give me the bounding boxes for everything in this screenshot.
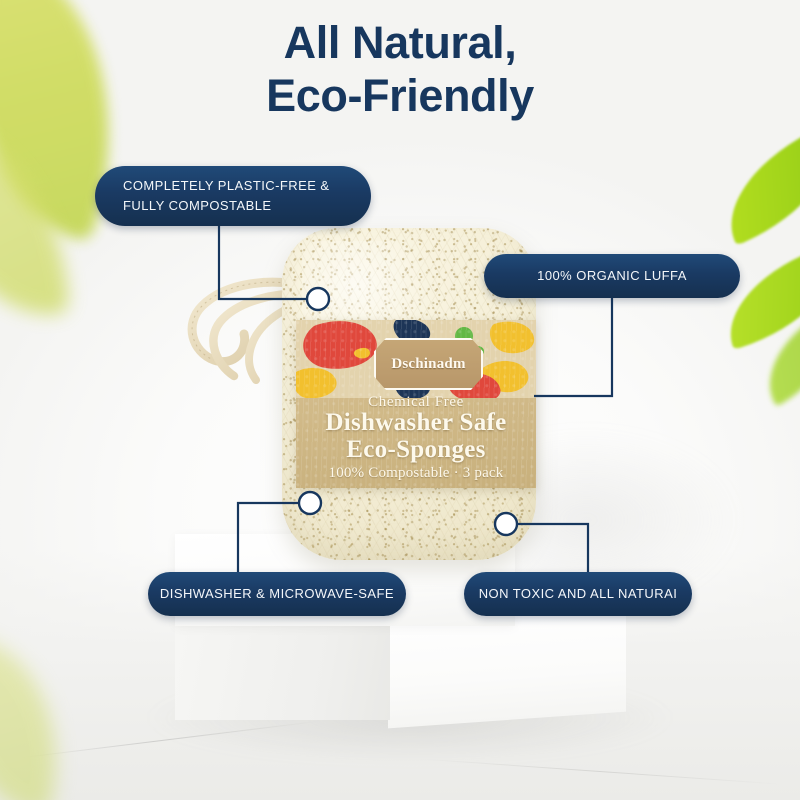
- label-title-line-1: Dishwasher Safe: [296, 410, 536, 437]
- headline-line-2: Eco-Friendly: [0, 69, 800, 122]
- label-copy: Chemical Free Dishwasher Safe Eco-Sponge…: [296, 394, 536, 482]
- callout-plastic-free-line-2: FULLY COMPOSTABLE: [123, 196, 272, 216]
- label-title-line-2: Eco-Sponges: [296, 437, 536, 464]
- page-title: All Natural, Eco-Friendly: [0, 16, 800, 122]
- brand-badge: Dschinadm: [374, 338, 483, 390]
- product-label: Dschinadm Chemical Free Dishwasher Safe …: [296, 320, 536, 488]
- label-subtitle: 100% Compostable · 3 pack: [296, 465, 536, 482]
- callout-non-toxic[interactable]: NON TOXIC AND ALL NATURAI: [464, 572, 692, 616]
- headline-line-1: All Natural,: [0, 16, 800, 69]
- brand-name: Dschinadm: [391, 356, 465, 373]
- callout-organic-luffa-line-1: 100% ORGANIC LUFFA: [537, 266, 687, 286]
- callout-non-toxic-line-1: NON TOXIC AND ALL NATURAI: [479, 584, 678, 604]
- callout-plastic-free-line-1: COMPLETELY PLASTIC-FREE &: [123, 176, 330, 196]
- pedestal-front: [175, 620, 390, 720]
- infographic-canvas: All Natural, Eco-Friendly: [0, 0, 800, 800]
- callout-organic-luffa[interactable]: 100% ORGANIC LUFFA: [484, 254, 740, 298]
- callout-plastic-free[interactable]: COMPLETELY PLASTIC-FREE & FULLY COMPOSTA…: [95, 166, 371, 226]
- callout-dishwasher-microwave-line-1: DISHWASHER & MICROWAVE-SAFE: [160, 584, 394, 604]
- callout-dishwasher-microwave[interactable]: DISHWASHER & MICROWAVE-SAFE: [148, 572, 406, 616]
